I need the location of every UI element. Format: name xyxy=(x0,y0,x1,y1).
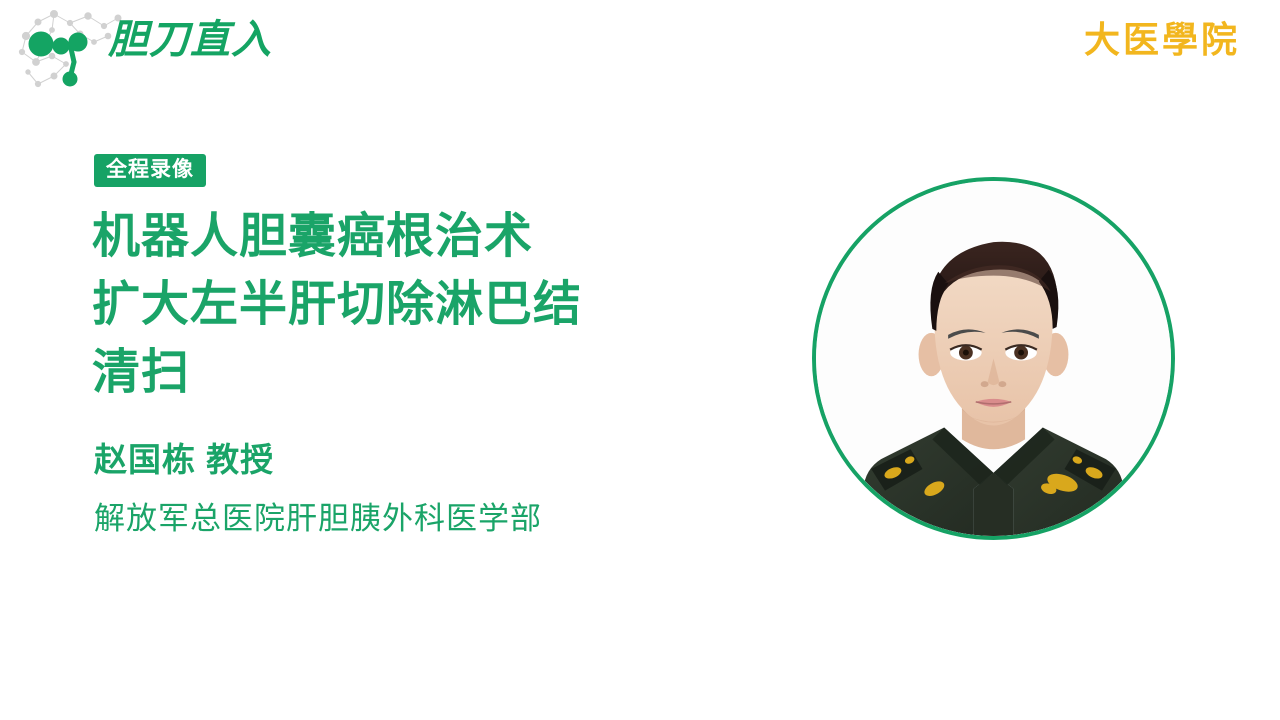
brand-title: 胆刀直入 xyxy=(108,20,272,60)
speaker-affiliation: 解放军总医院肝胆胰外科医学部 xyxy=(94,500,542,537)
page-title-line-2: 扩大左半肝切除淋巴结 xyxy=(92,271,712,339)
page-title-line-3: 清扫 xyxy=(92,339,712,407)
page-title-line-1: 机器人胆囊癌根治术 xyxy=(92,203,712,271)
presentation-slide: 胆刀直入 大医學院 全程录像 机器人胆囊癌根治术 扩大左半肝切除淋巴结 清扫 赵… xyxy=(0,0,1280,720)
speaker-name: 赵国栋 教授 xyxy=(94,440,274,480)
page-title: 机器人胆囊癌根治术 扩大左半肝切除淋巴结 清扫 xyxy=(92,203,712,407)
avatar xyxy=(812,177,1175,540)
academy-title: 大医學院 xyxy=(1084,22,1240,58)
status-badge: 全程录像 xyxy=(94,154,206,187)
